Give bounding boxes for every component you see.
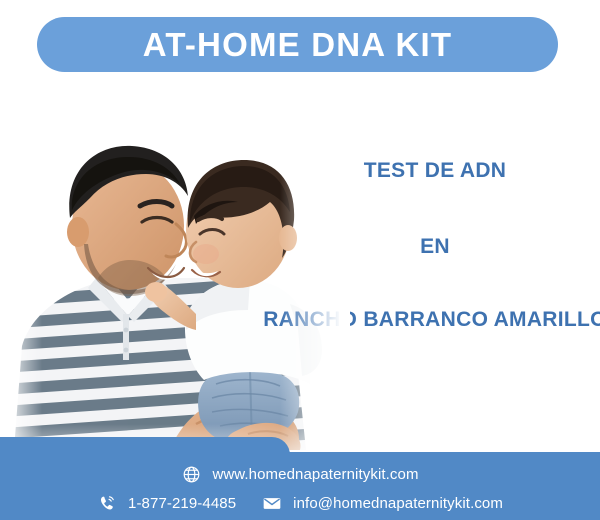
footer-row-website: www.homednapaternitykit.com xyxy=(0,464,600,484)
header-banner: AT-HOME DNA KIT xyxy=(37,17,558,72)
header-banner-title: AT-HOME DNA KIT xyxy=(143,28,452,61)
footer-email-item[interactable]: info@homednapaternitykit.com xyxy=(262,493,503,513)
footer-phone-item[interactable]: 1-877-219-4485 xyxy=(97,493,236,513)
footer-website-text: www.homednapaternitykit.com xyxy=(212,466,418,483)
footer-website-item[interactable]: www.homednapaternitykit.com xyxy=(181,464,418,484)
footer-bar: www.homednapaternitykit.com 1-877-219-44… xyxy=(0,437,600,520)
footer-phone-text: 1-877-219-4485 xyxy=(128,495,236,512)
flyer-canvas: AT-HOME DNA KIT TEST DE ADN EN RANCHO BA… xyxy=(0,0,600,520)
family-photo xyxy=(0,78,350,450)
footer-row-contact: 1-877-219-4485 info@homednapaternitykit.… xyxy=(0,493,600,513)
footer-email-text: info@homednapaternitykit.com xyxy=(293,495,503,512)
photo-left-fade xyxy=(0,78,42,450)
phone-icon xyxy=(97,493,117,513)
globe-icon xyxy=(181,464,201,484)
photo-right-fade xyxy=(280,78,350,450)
envelope-icon xyxy=(262,493,282,513)
